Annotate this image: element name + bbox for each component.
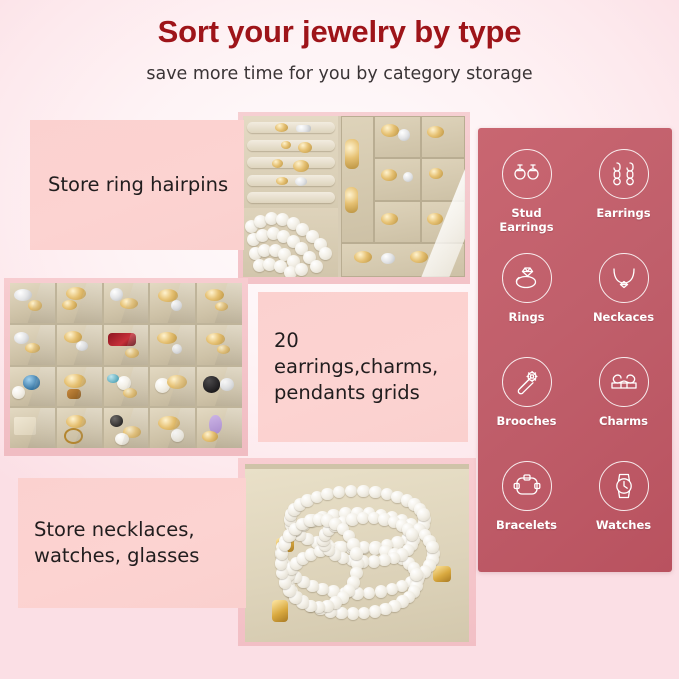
category-item-earrings[interactable]: Earrings — [575, 142, 672, 246]
callout-text: Store ring hairpins — [48, 172, 228, 198]
bracelet-icon — [502, 461, 552, 511]
callout-text: 20 earrings,charms, pendants grids — [274, 328, 468, 405]
stud-earrings-icon — [502, 149, 552, 199]
category-panel: Stud Earrings Earrings — [478, 128, 672, 572]
photo-jewelry-tray-20-grid — [4, 278, 248, 456]
page-title: Sort your jewelry by type — [0, 14, 679, 50]
category-item-rings[interactable]: Rings — [478, 246, 575, 350]
callout-store-ring-hairpins: Store ring hairpins — [30, 120, 244, 250]
infographic-page: Sort your jewelry by type save more time… — [0, 0, 679, 679]
earrings-icon — [599, 149, 649, 199]
category-label: Stud Earrings — [499, 206, 553, 234]
rings-icon — [502, 253, 552, 303]
category-label: Earrings — [596, 206, 650, 220]
charms-icon — [599, 357, 649, 407]
category-item-stud-earrings[interactable]: Stud Earrings — [478, 142, 575, 246]
category-item-necklaces[interactable]: Neckaces — [575, 246, 672, 350]
category-label: Charms — [599, 414, 648, 428]
category-label: Watches — [596, 518, 651, 532]
category-item-brooches[interactable]: Brooches — [478, 350, 575, 454]
category-label: Neckaces — [593, 310, 654, 324]
photo-jewelry-tray-pearl-necklaces — [238, 458, 476, 646]
category-item-bracelets[interactable]: Bracelets — [478, 454, 575, 558]
photo-jewelry-tray-rings-pearls — [238, 112, 470, 284]
category-item-charms[interactable]: Charms — [575, 350, 672, 454]
callout-text: Store necklaces, watches, glasses — [34, 517, 199, 568]
necklace-icon — [599, 253, 649, 303]
callout-20-grids: 20 earrings,charms, pendants grids — [258, 292, 468, 442]
category-item-watches[interactable]: Watches — [575, 454, 672, 558]
pearl-strands — [243, 208, 338, 277]
page-subtitle: save more time for you by category stora… — [0, 64, 679, 84]
watch-icon — [599, 461, 649, 511]
category-label: Bracelets — [496, 518, 557, 532]
category-label: Rings — [508, 310, 544, 324]
brooch-icon — [502, 357, 552, 407]
callout-store-necklaces: Store necklaces, watches, glasses — [18, 478, 246, 608]
category-label: Brooches — [497, 414, 557, 428]
